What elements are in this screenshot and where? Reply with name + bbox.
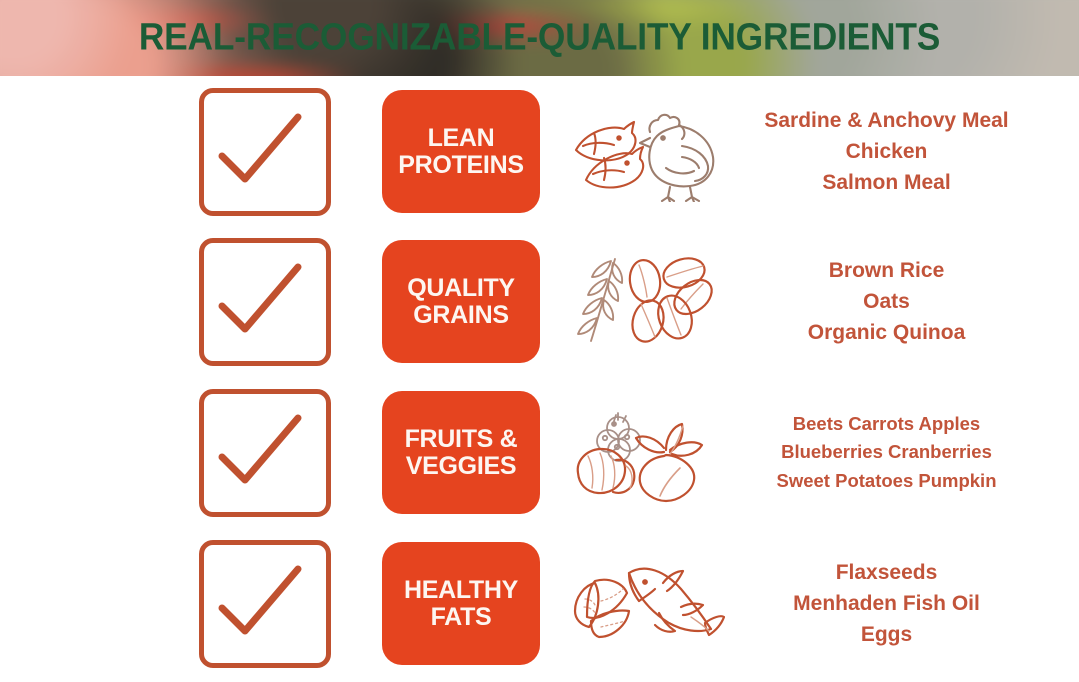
badge-line-1: QUALITY xyxy=(407,275,515,302)
badge-line-1: LEAN xyxy=(428,125,495,152)
ingredient-row: QUALITY GRAINS xyxy=(0,226,1079,377)
badge-cell: FRUITS & VEGGIES xyxy=(365,391,557,514)
ingredient-line: Chicken xyxy=(732,136,1041,167)
checkbox-fruits-veggies[interactable] xyxy=(199,389,331,517)
ingredient-line: Eggs xyxy=(732,619,1041,650)
checkbox-cell xyxy=(165,238,365,366)
header-banner: REAL-RECOGNIZABLE-QUALITY INGREDIENTS xyxy=(0,0,1079,76)
ingredient-text-lean-proteins: Sardine & Anchovy Meal Chicken Salmon Me… xyxy=(732,105,1079,198)
ingredient-line: Salmon Meal xyxy=(732,167,1041,198)
ingredient-line: Beets Carrots Apples xyxy=(732,410,1041,438)
ingredient-line: Menhaden Fish Oil xyxy=(732,588,1041,619)
badge-line-2: VEGGIES xyxy=(406,453,516,480)
badge-line-1: FRUITS & xyxy=(405,426,518,453)
icon-cell xyxy=(557,102,732,202)
ingredient-line: Blueberries Cranberries xyxy=(732,438,1041,466)
badge-cell: QUALITY GRAINS xyxy=(365,240,557,363)
ingredient-row: FRUITS & VEGGIES xyxy=(0,377,1079,528)
badge-line-2: FATS xyxy=(431,604,492,631)
ingredient-line: Brown Rice xyxy=(732,255,1041,286)
fish-and-chicken-icon xyxy=(570,102,720,202)
checkbox-cell xyxy=(165,540,365,668)
checkmark-icon xyxy=(204,93,316,201)
ingredient-rows: LEAN PROTEINS xyxy=(0,76,1079,682)
checkmark-icon xyxy=(204,545,316,653)
ingredient-text-quality-grains: Brown Rice Oats Organic Quinoa xyxy=(732,255,1079,348)
flaxseeds-and-fish-icon xyxy=(565,549,725,659)
badge-cell: LEAN PROTEINS xyxy=(365,90,557,213)
badge-quality-grains[interactable]: QUALITY GRAINS xyxy=(382,240,540,363)
badge-lean-proteins[interactable]: LEAN PROTEINS xyxy=(382,90,540,213)
checkmark-icon xyxy=(204,243,316,351)
ingredient-text-fruits-veggies: Beets Carrots Apples Blueberries Cranber… xyxy=(732,410,1079,494)
sweet-potato-blueberries-beet-icon xyxy=(570,398,720,508)
ingredient-line: Flaxseeds xyxy=(732,557,1041,588)
ingredient-row: LEAN PROTEINS xyxy=(0,76,1079,227)
badge-healthy-fats[interactable]: HEALTHY FATS xyxy=(382,542,540,665)
wheat-and-grains-icon xyxy=(567,249,722,354)
badge-fruits-veggies[interactable]: FRUITS & VEGGIES xyxy=(382,391,540,514)
checkbox-lean-proteins[interactable] xyxy=(199,88,331,216)
ingredient-line: Organic Quinoa xyxy=(732,317,1041,348)
checkbox-cell xyxy=(165,389,365,517)
checkbox-cell xyxy=(165,88,365,216)
checkmark-icon xyxy=(204,394,316,502)
ingredient-line: Sardine & Anchovy Meal xyxy=(732,105,1041,136)
icon-cell xyxy=(557,398,732,508)
icon-cell xyxy=(557,249,732,354)
checkbox-healthy-fats[interactable] xyxy=(199,540,331,668)
badge-cell: HEALTHY FATS xyxy=(365,542,557,665)
ingredient-line: Sweet Potatoes Pumpkin xyxy=(732,467,1041,495)
checkbox-quality-grains[interactable] xyxy=(199,238,331,366)
icon-cell xyxy=(557,549,732,659)
badge-line-2: GRAINS xyxy=(413,302,508,329)
ingredient-text-healthy-fats: Flaxseeds Menhaden Fish Oil Eggs xyxy=(732,557,1079,650)
page-title: REAL-RECOGNIZABLE-QUALITY INGREDIENTS xyxy=(38,17,1041,60)
badge-line-1: HEALTHY xyxy=(404,577,518,604)
ingredient-row: HEALTHY FATS xyxy=(0,528,1079,679)
badge-line-2: PROTEINS xyxy=(398,152,523,179)
ingredient-line: Oats xyxy=(732,286,1041,317)
